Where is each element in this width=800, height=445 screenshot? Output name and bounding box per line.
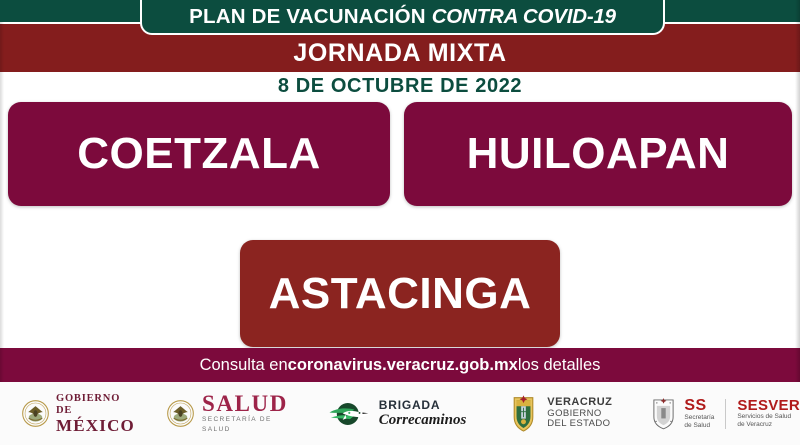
page-title-emphasis: CONTRA COVID-19: [432, 5, 616, 28]
mexico-eagle-seal-icon: [22, 400, 49, 427]
event-date: 8 DE OCTUBRE DE 2022: [0, 72, 800, 100]
logo-ss-line2: Secretaría: [684, 414, 714, 422]
municipality-label: HUILOAPAN: [467, 129, 730, 179]
logo-bar: GOBIERNO DE MÉXICO SALUD SECRETARÍA DE S…: [0, 382, 800, 445]
logo-brigada-correcaminos: BRIGADA Correcaminos: [328, 382, 467, 445]
logo-gobierno-mexico-line2: MÉXICO: [56, 417, 135, 435]
veracruz-shield-icon: [650, 397, 677, 431]
logo-salud: SALUD SECRETARÍA DE SALUD: [167, 382, 294, 445]
logo-brigada-line2: Correcaminos: [379, 412, 467, 429]
logo-sesver-line3: de Veracruz: [737, 421, 800, 429]
municipality-card-astacinga[interactable]: ASTACINGA: [240, 240, 560, 347]
consult-url[interactable]: coronavirus.veracruz.gob.mx: [288, 356, 518, 375]
consult-suffix: los detalles: [518, 356, 601, 375]
header-rule-left: [0, 22, 142, 24]
logo-sesver: SESVER Servicios de Salud de Veracruz: [737, 382, 800, 445]
logo-gobierno-mexico: GOBIERNO DE MÉXICO: [22, 382, 135, 445]
logo-ss-line1: SS: [684, 398, 714, 414]
logo-ss-line3: de Salud: [684, 422, 714, 430]
consult-bar: Consulta en coronavirus.veracruz.gob.mx …: [0, 348, 800, 382]
logo-ss-secretaria-salud: SS Secretaría de Salud: [650, 382, 714, 445]
logo-sesver-line2: Servicios de Salud: [737, 413, 800, 421]
logo-veracruz-gobierno: VERACRUZ GOBIERNO DEL ESTADO: [508, 382, 612, 445]
logo-veracruz-line3: DEL ESTADO: [547, 419, 612, 430]
consult-prefix: Consulta en: [200, 356, 288, 375]
logo-salud-line1: SALUD: [202, 392, 294, 415]
page-title: PLAN DE VACUNACIÓN CONTRA COVID-19: [140, 0, 665, 33]
mexico-eagle-seal-icon: [167, 400, 194, 427]
municipality-card-huiloapan[interactable]: HUILOAPAN: [404, 102, 792, 206]
logo-salud-line2: SECRETARÍA DE SALUD: [202, 415, 294, 435]
municipality-card-coetzala[interactable]: COETZALA: [8, 102, 390, 206]
header-rule-right: [663, 22, 800, 24]
municipality-label: ASTACINGA: [269, 269, 532, 319]
vaccination-poster: PLAN DE VACUNACIÓN CONTRA COVID-19 JORNA…: [0, 0, 800, 445]
logo-divider: [725, 399, 726, 429]
page-title-main: PLAN DE VACUNACIÓN: [189, 5, 432, 28]
logo-brigada-line1: BRIGADA: [379, 399, 467, 412]
municipality-label: COETZALA: [77, 129, 321, 179]
veracruz-coat-of-arms-icon: [508, 395, 539, 433]
roadrunner-bird-icon: [328, 398, 372, 430]
logo-sesver-line1: SESVER: [737, 398, 800, 413]
logo-gobierno-mexico-line1: GOBIERNO DE: [56, 393, 135, 417]
page-subtitle: JORNADA MIXTA: [0, 34, 800, 72]
